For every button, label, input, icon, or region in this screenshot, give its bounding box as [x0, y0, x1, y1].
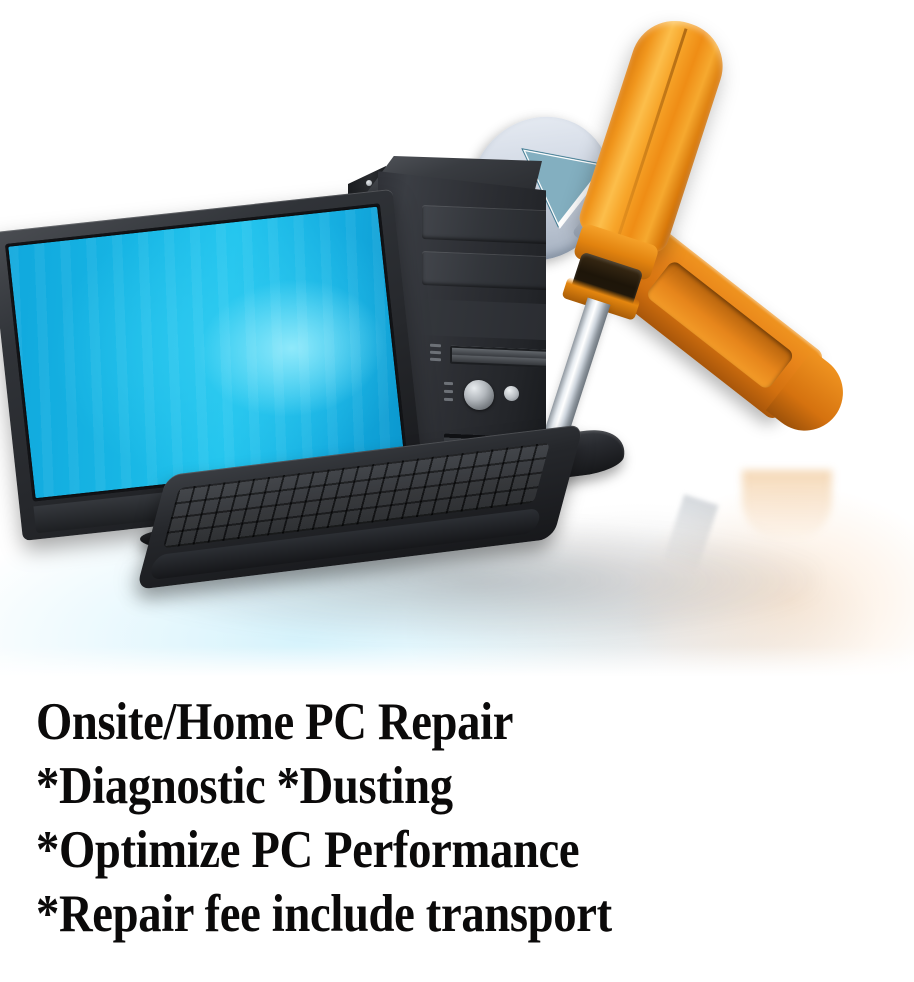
optical-drive-slot: [450, 346, 560, 369]
tower-status-leds: [444, 382, 453, 406]
tower-drive-bay-1: [422, 205, 568, 245]
tower-screw: [366, 180, 372, 186]
product-photo: [0, 0, 914, 682]
caption-block: Onsite/Home PC Repair *Diagnostic *Dusti…: [0, 682, 914, 982]
caption-line-3: *Optimize PC Performance: [36, 818, 809, 882]
caption-line-1: Onsite/Home PC Repair: [36, 690, 809, 754]
tower-drive-indicators: [430, 344, 441, 365]
photo-bottom-fade: [0, 646, 914, 682]
reset-button-icon: [504, 386, 519, 402]
tower-bay-blank: [422, 299, 568, 341]
advertisement-image: Onsite/Home PC Repair *Diagnostic *Dusti…: [0, 0, 914, 982]
caption-line-4: *Repair fee include transport: [36, 882, 809, 946]
caption-line-2: *Diagnostic *Dusting: [36, 754, 809, 818]
tower-drive-bay-2: [422, 251, 568, 291]
power-button-icon: [464, 379, 494, 410]
wrench-reflection: [742, 470, 832, 540]
